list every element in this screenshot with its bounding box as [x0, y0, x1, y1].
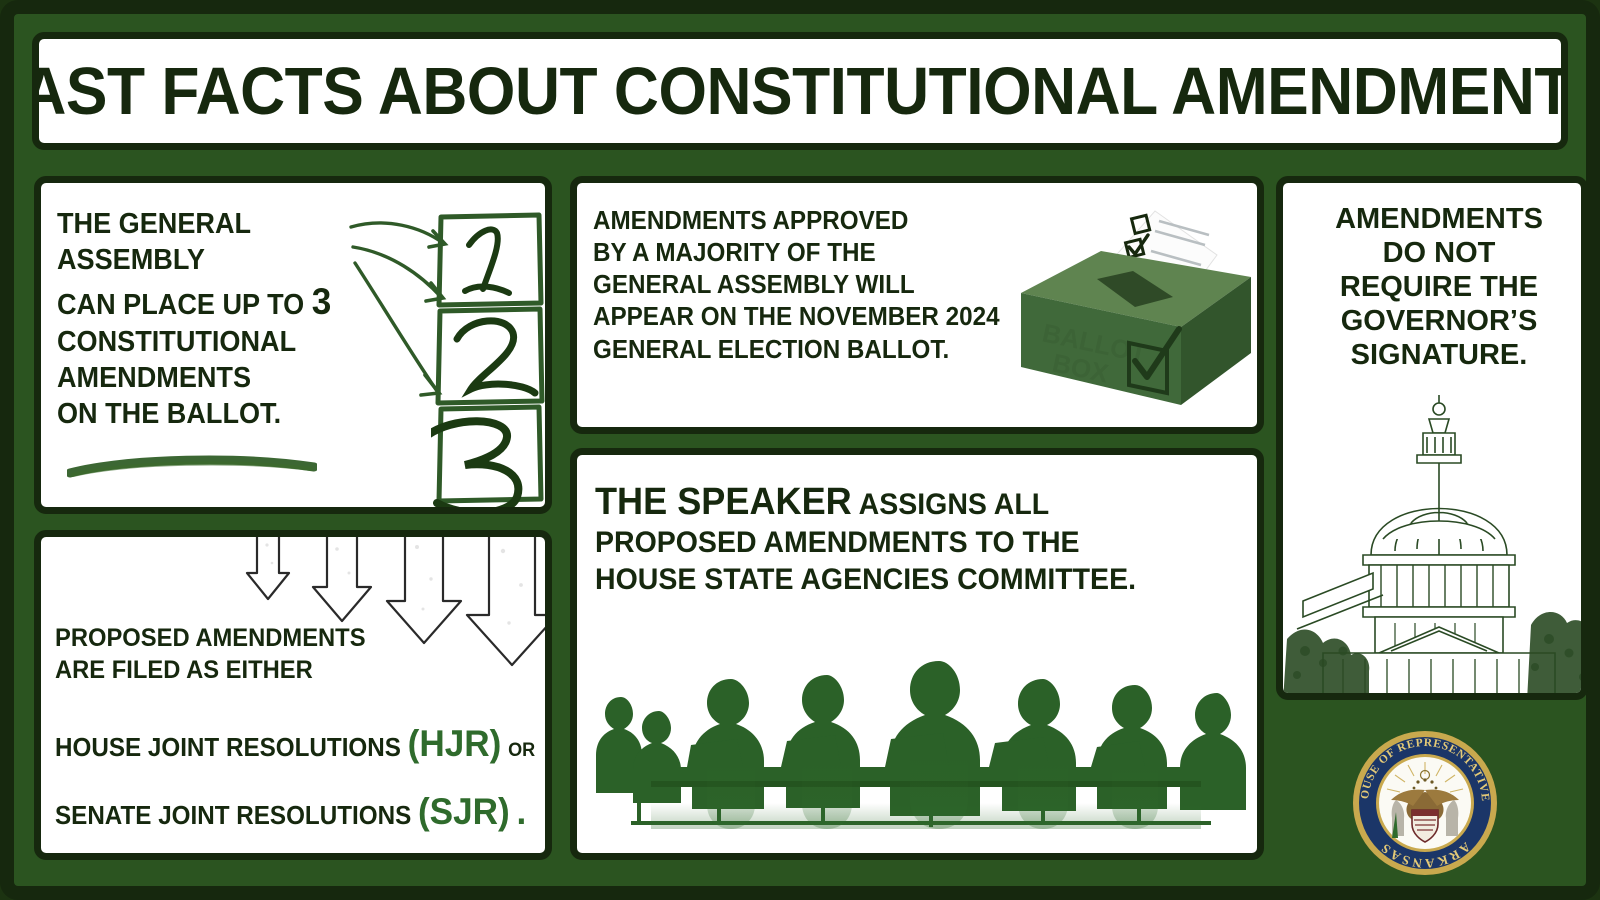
assembly-number-three: 3 [312, 281, 332, 322]
resolutions-sjr-line: SENATE JOINT RESOLUTIONS (SJR) . [55, 789, 530, 836]
panel-speaker-assignment: THE SPEAKER ASSIGNS ALL PROPOSED AMENDME… [570, 448, 1264, 860]
title-panel: FAST FACTS ABOUT CONSTITUTIONAL AMENDMEN… [32, 32, 1568, 150]
resolutions-hjr-line: HOUSE JOINT RESOLUTIONS (HJR) OR [55, 721, 530, 768]
page-title: FAST FACTS ABOUT CONSTITUTIONAL AMENDMEN… [32, 53, 1568, 130]
ballot-line-4: APPEAR ON THE NOVEMBER 2024 [593, 301, 1021, 333]
speaker-line-3: HOUSE STATE AGENCIES COMMITTEE. [595, 562, 1213, 599]
governor-line-2: DO NOT [1289, 237, 1588, 271]
speaker-line-1-rest: ASSIGNS ALL [859, 488, 1050, 521]
ballot-box-icon: BALLOT BOX [1005, 189, 1255, 419]
committee-meeting-silhouette-icon [591, 627, 1251, 857]
hand-drawn-underline-icon [67, 453, 317, 479]
assembly-text-block: THE GENERAL ASSEMBLY CAN PLACE UP TO 3 C… [57, 207, 371, 433]
governor-line-4: GOVERNOR’S [1289, 305, 1588, 339]
assembly-line-1: THE GENERAL ASSEMBLY [57, 207, 371, 279]
hjr-abbreviation: (HJR) [408, 723, 502, 764]
governor-line-5: SIGNATURE. [1289, 339, 1588, 373]
panel-proposed-amendments: PROPOSED AMENDMENTS ARE FILED AS EITHER … [34, 530, 552, 860]
resolutions-intro-block: PROPOSED AMENDMENTS ARE FILED AS EITHER [55, 623, 435, 686]
panel-general-assembly: THE GENERAL ASSEMBLY CAN PLACE UP TO 3 C… [34, 176, 552, 514]
ballot-line-5: GENERAL ELECTION BALLOT. [593, 334, 1021, 366]
hjr-label: HOUSE JOINT RESOLUTIONS [55, 734, 401, 762]
panel-governor-signature: AMENDMENTS DO NOT REQUIRE THE GOVERNOR’S… [1276, 176, 1588, 700]
speaker-text-block: THE SPEAKER ASSIGNS ALL PROPOSED AMENDME… [595, 479, 1213, 599]
governor-text-block: AMENDMENTS DO NOT REQUIRE THE GOVERNOR’S… [1289, 203, 1588, 373]
ballot-line-2: BY A MAJORITY OF THE [593, 237, 1021, 269]
assembly-line-4: AMENDMENTS [57, 361, 371, 397]
governor-line-3: REQUIRE THE [1289, 271, 1588, 305]
ballot-line-3: GENERAL ASSEMBLY WILL [593, 269, 1021, 301]
numbered-boxes-group [431, 211, 551, 511]
speaker-emphasis: THE SPEAKER [595, 481, 852, 523]
infographic-root: FAST FACTS ABOUT CONSTITUTIONAL AMENDMEN… [0, 0, 1600, 900]
ballot-text-block: AMENDMENTS APPROVED BY A MAJORITY OF THE… [593, 205, 1021, 366]
sjr-period: . [517, 791, 527, 832]
sjr-abbreviation: (SJR) [418, 791, 510, 832]
resolutions-line-1: PROPOSED AMENDMENTS [55, 623, 435, 655]
state-capitol-dome-icon [1283, 389, 1588, 700]
governor-line-1: AMENDMENTS [1289, 203, 1588, 237]
assembly-line-3: CONSTITUTIONAL [57, 325, 371, 361]
assembly-line-2-text: CAN PLACE UP TO [57, 289, 304, 321]
hjr-or-conjunction: OR [508, 740, 535, 761]
resolutions-line-2: ARE FILED AS EITHER [55, 655, 435, 687]
assembly-line-2: CAN PLACE UP TO 3 [57, 279, 371, 326]
sjr-label: SENATE JOINT RESOLUTIONS [55, 802, 411, 830]
arkansas-house-seal-icon: HOUSE OF REPRESENTATIVES ARKANSAS [1352, 730, 1498, 876]
speaker-line-2: PROPOSED AMENDMENTS TO THE [595, 525, 1213, 562]
speaker-line-1: THE SPEAKER ASSIGNS ALL [595, 479, 1213, 525]
ballot-line-1: AMENDMENTS APPROVED [593, 205, 1021, 237]
panel-ballot-appearance: AMENDMENTS APPROVED BY A MAJORITY OF THE… [570, 176, 1264, 434]
assembly-line-5: ON THE BALLOT. [57, 397, 371, 433]
